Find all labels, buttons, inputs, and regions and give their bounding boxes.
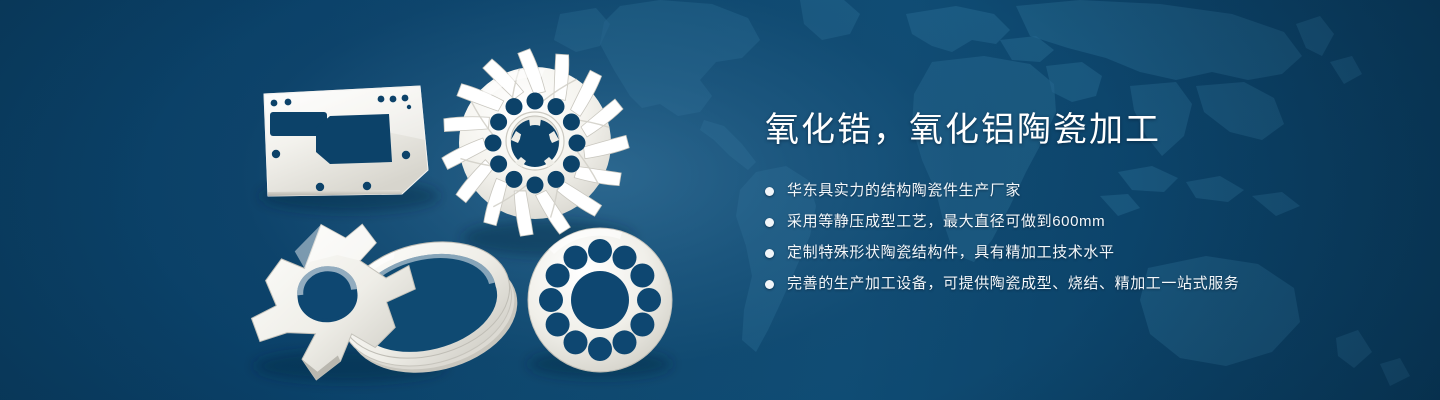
list-item-label: 完善的生产加工设备，可提供陶瓷成型、烧结、精加工一站式服务 [787, 273, 1239, 295]
ceramic-impeller [438, 46, 633, 241]
hero-banner: 氧化锆，氧化铝陶瓷加工 华东具实力的结构陶瓷件生产厂家 采用等静压成型工艺，最大… [0, 0, 1440, 400]
bullet-dot-icon [765, 249, 774, 258]
feature-list: 华东具实力的结构陶瓷件生产厂家 采用等静压成型工艺，最大直径可做到600mm 定… [765, 180, 1385, 295]
banner-copy: 氧化锆，氧化铝陶瓷加工 华东具实力的结构陶瓷件生产厂家 采用等静压成型工艺，最大… [765, 108, 1385, 295]
bullet-dot-icon [765, 280, 774, 289]
bullet-dot-icon [765, 218, 774, 227]
list-item: 采用等静压成型工艺，最大直径可做到600mm [765, 211, 1385, 233]
bullet-dot-icon [765, 187, 774, 196]
list-item: 定制特殊形状陶瓷结构件，具有精加工技术水平 [765, 242, 1385, 264]
list-item-label: 华东具实力的结构陶瓷件生产厂家 [787, 180, 1021, 202]
ceramic-perforated-disc [528, 228, 672, 372]
list-item-label: 定制特殊形状陶瓷结构件，具有精加工技术水平 [787, 242, 1115, 264]
page-title: 氧化锆，氧化铝陶瓷加工 [765, 108, 1385, 152]
list-item-label: 采用等静压成型工艺，最大直径可做到600mm [787, 211, 1105, 233]
ceramic-plate-with-cutouts [264, 86, 428, 196]
list-item: 完善的生产加工设备，可提供陶瓷成型、烧结、精加工一站式服务 [765, 273, 1385, 295]
list-item: 华东具实力的结构陶瓷件生产厂家 [765, 180, 1385, 202]
product-photo-cluster [0, 0, 740, 400]
